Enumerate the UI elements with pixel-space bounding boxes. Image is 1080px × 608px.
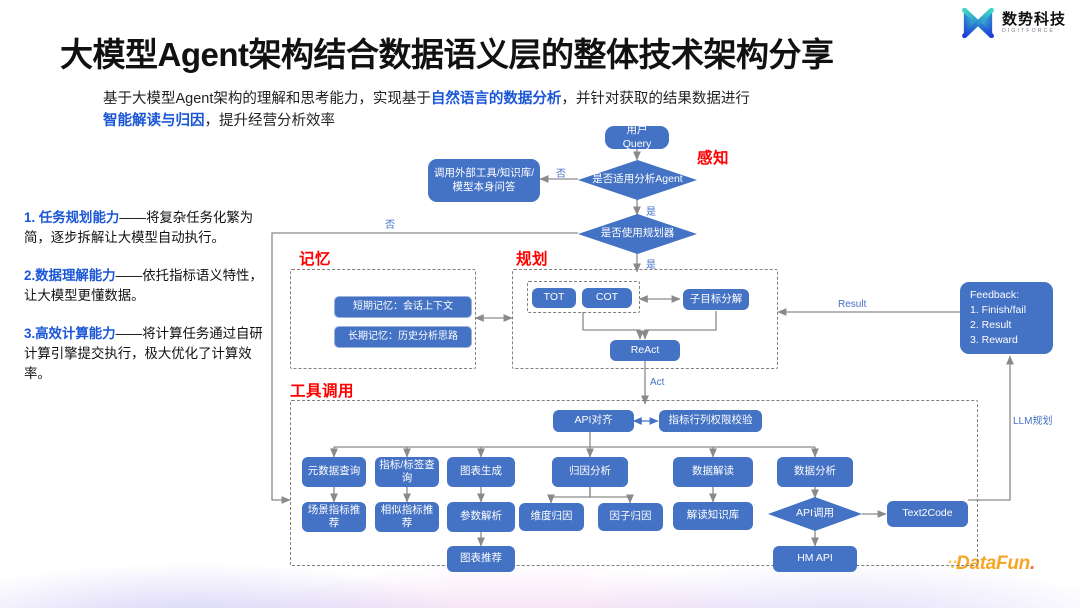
- node-label: 用户 Query: [623, 124, 652, 150]
- node-label: 指标行列权限校验: [669, 414, 753, 427]
- node-chart-generation[interactable]: 图表生成: [447, 457, 515, 487]
- node-label: 是否使用规划器: [595, 227, 681, 240]
- node-label: 场景指标推荐: [306, 504, 362, 530]
- node-label: API对齐: [575, 414, 613, 427]
- section-label-perception: 感知: [697, 146, 729, 168]
- node-factor-attribution[interactable]: 因子归因: [598, 503, 663, 531]
- edge-label-yes-2: 是: [646, 256, 656, 271]
- node-external-tool-qa[interactable]: 调用外部工具/知识库/模型本身问答: [428, 159, 540, 202]
- node-data-interpretation[interactable]: 数据解读: [673, 457, 753, 487]
- node-label: 归因分析: [569, 465, 611, 478]
- node-label: 图表生成: [460, 465, 502, 478]
- node-metric-tag-query[interactable]: 指标/标签查询: [375, 457, 439, 487]
- node-metadata-query[interactable]: 元数据查询: [302, 457, 366, 487]
- section-label-memory: 记忆: [299, 247, 331, 269]
- node-chart-recommend[interactable]: 图表推荐: [447, 546, 515, 572]
- node-label: 解读知识库: [687, 509, 740, 522]
- node-scene-metric-recommend[interactable]: 场景指标推荐: [302, 502, 366, 532]
- node-label: COT: [596, 291, 618, 304]
- node-acl-check[interactable]: 指标行列权限校验: [659, 410, 762, 432]
- node-react[interactable]: ReAct: [610, 340, 680, 361]
- node-cot[interactable]: COT: [582, 288, 632, 308]
- node-attribution-analysis[interactable]: 归因分析: [552, 457, 628, 487]
- node-label: Feedback: 1. Finish/fail 2. Result 3. Re…: [970, 288, 1026, 349]
- node-data-analysis[interactable]: 数据分析: [777, 457, 853, 487]
- node-subgoal-decomposition[interactable]: 子目标分解: [683, 289, 749, 310]
- node-decide-analysis-agent[interactable]: 是否适用分析Agent: [578, 160, 697, 200]
- node-label: 短期记忆：会话上下文: [353, 301, 453, 314]
- edge-label-llm-planning: LLM规划: [1013, 412, 1052, 427]
- node-user-query[interactable]: 用户 Query: [605, 126, 669, 149]
- node-label: 因子归因: [610, 510, 652, 523]
- node-label: 相似指标推荐: [379, 504, 435, 530]
- node-label: 元数据查询: [308, 465, 361, 478]
- node-label: 是否适用分析Agent: [586, 173, 688, 186]
- node-label: 指标/标签查询: [379, 459, 435, 485]
- node-tot[interactable]: TOT: [532, 288, 576, 308]
- node-label: 数据分析: [794, 465, 836, 478]
- node-label: HM API: [797, 552, 833, 565]
- node-short-term-memory[interactable]: 短期记忆：会话上下文: [334, 296, 472, 318]
- node-label: 子目标分解: [690, 293, 743, 306]
- node-label: 图表推荐: [460, 552, 502, 565]
- node-knowledge-base[interactable]: 解读知识库: [673, 502, 753, 530]
- node-label: ReAct: [631, 344, 660, 357]
- node-label: 调用外部工具/知识库/模型本身问答: [432, 167, 536, 193]
- node-api-call[interactable]: API调用: [768, 497, 862, 531]
- edge-label-act: Act: [650, 377, 664, 388]
- node-label: API调用: [790, 507, 840, 520]
- memory-region: [290, 269, 476, 369]
- node-label: Text2Code: [902, 507, 952, 520]
- edge-label-yes-1: 是: [646, 203, 656, 218]
- node-text2code[interactable]: Text2Code: [887, 501, 968, 527]
- node-label: 参数解析: [460, 510, 502, 523]
- section-label-tools: 工具调用: [290, 379, 354, 401]
- architecture-diagram: 感知 记忆 规划 工具调用 用户 Query 是否适用分析Agent 调用外部工…: [0, 0, 1080, 608]
- edge-label-no-2: 否: [385, 216, 395, 231]
- node-label: TOT: [544, 291, 565, 304]
- node-parameter-parsing[interactable]: 参数解析: [447, 502, 515, 532]
- node-hm-api[interactable]: HM API: [773, 546, 857, 572]
- node-feedback[interactable]: Feedback: 1. Finish/fail 2. Result 3. Re…: [960, 282, 1053, 354]
- node-label: 维度归因: [531, 510, 573, 523]
- section-label-planning: 规划: [516, 247, 548, 269]
- node-decide-use-planner[interactable]: 是否使用规划器: [578, 214, 697, 254]
- edge-label-no-1: 否: [556, 165, 566, 180]
- edge-label-result: Result: [838, 299, 866, 310]
- node-long-term-memory[interactable]: 长期记忆：历史分析思路: [334, 326, 472, 348]
- node-api-align[interactable]: API对齐: [553, 410, 634, 432]
- node-similar-metric-recommend[interactable]: 相似指标推荐: [375, 502, 439, 532]
- node-label: 数据解读: [692, 465, 734, 478]
- node-label: 长期记忆：历史分析思路: [348, 331, 458, 344]
- node-dimension-attribution[interactable]: 维度归因: [519, 503, 584, 531]
